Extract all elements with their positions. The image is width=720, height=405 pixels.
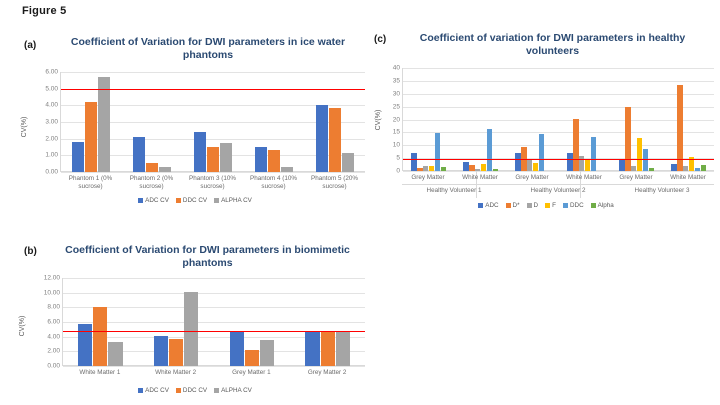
y-tick-label: 15 [393,129,400,136]
y-tick-label: 5 [396,155,400,162]
legend-label: DDC CV [183,197,207,204]
bar [411,153,416,171]
legend-swatch-icon [214,198,219,203]
bar [423,166,428,171]
x-category-label: White Matter [662,174,714,182]
y-tick-label: 4.00 [47,333,60,340]
y-tick-label: 2.00 [45,135,58,142]
gridline [61,72,365,73]
bar [573,119,578,171]
bar [184,292,198,366]
panel-c-legend: ADCD*DFDDCAlpha [372,202,720,209]
bar [194,132,206,172]
x-axis-line [403,170,714,171]
bar [527,160,532,171]
legend-swatch-icon [138,198,143,203]
bar [260,340,274,366]
y-tick-label: 12.00 [44,275,60,282]
legend-swatch-icon [214,388,219,393]
legend-label: DDC CV [183,387,207,394]
y-tick-label: 10.00 [44,289,60,296]
bar [567,153,572,171]
y-tick-label: 35 [393,77,400,84]
bar [493,169,498,171]
legend-item[interactable]: ALPHA CV [214,197,252,204]
bar [316,105,328,172]
bar [469,165,474,171]
x-category-label: White Matter [558,174,610,182]
y-tick-label: 30 [393,90,400,97]
gridline [63,322,365,323]
x-group-label: Healthy Volunteer 1 [402,187,506,194]
legend-item[interactable]: D* [506,202,520,209]
legend-swatch-icon [176,198,181,203]
gridline [403,132,714,133]
bar [245,350,259,366]
bar [281,167,293,172]
bar [169,339,183,366]
gridline [403,171,714,172]
x-category-label: White Matter [454,174,506,182]
bar [701,165,706,171]
gridline [63,366,365,367]
panel-b-title: Coefficient of Variation for DWI paramet… [60,244,355,270]
threshold-line [61,89,365,91]
legend-item[interactable]: Alpha [591,202,614,209]
bar [683,166,688,171]
legend-swatch-icon [527,203,532,208]
x-category-label: Grey Matter [610,174,662,182]
legend-label: DDC [570,202,584,209]
x-category-label: Phantom 5 (20% sucrose) [304,175,365,191]
y-tick-label: 4.00 [45,102,58,109]
bar [591,137,596,171]
bar [435,133,440,171]
bar [108,342,122,366]
x-category-label: White Matter 1 [62,369,138,377]
panel-a-legend: ADC CVDDC CVALPHA CV [20,197,370,204]
legend-item[interactable]: ADC CV [138,197,169,204]
panel-b-letter: (b) [24,246,37,257]
x-group-label: Healthy Volunteer 2 [506,187,610,194]
y-tick-label: 0 [396,168,400,175]
panel-c-plot-area: 0510152025303540 [402,68,714,171]
y-tick-label: 5.00 [45,85,58,92]
bar [417,168,422,171]
bar [329,108,341,172]
legend-label: D* [513,202,520,209]
figure-label: Figure 5 [22,5,66,17]
panel-c-chart: (c) Coefficient of variation for DWI par… [372,30,720,220]
legend-label: F [552,202,556,209]
y-tick-label: 6.00 [47,319,60,326]
y-tick-label: 2.00 [47,348,60,355]
bar [255,147,267,172]
bar [539,134,544,171]
gridline [63,278,365,279]
x-category-label: Grey Matter [402,174,454,182]
bar [619,160,624,171]
bar [146,163,158,172]
panel-b-chart: (b) Coefficient of Variation for DWI par… [20,240,370,405]
panel-a-chart: (a) Coefficient of Variation for DWI par… [20,32,370,217]
x-category-label: Phantom 3 (10% sucrose) [182,175,243,191]
legend-label: D [534,202,539,209]
legend-swatch-icon [506,203,511,208]
bar [695,168,700,171]
legend-item[interactable]: ADC [478,202,498,209]
legend-label: ADC CV [145,197,169,204]
legend-item[interactable]: ADC CV [138,387,169,394]
bar [159,167,171,172]
legend-label: Alpha [598,202,614,209]
bar [625,107,630,171]
panel-a-y-axis-label: CV(%) [21,117,28,138]
legend-label: ADC CV [145,387,169,394]
legend-swatch-icon [545,203,550,208]
bar [321,332,335,366]
bar [336,332,350,366]
y-tick-label: 3.00 [45,119,58,126]
x-category-label: Grey Matter [506,174,558,182]
legend-swatch-icon [176,388,181,393]
bar [585,160,590,171]
y-tick-label: 0.00 [47,363,60,370]
legend-item[interactable]: F [545,202,556,209]
bar [487,129,492,171]
bar [93,307,107,366]
bar [463,162,468,171]
bar [230,332,244,366]
x-category-label: Phantom 2 (0% sucrose) [121,175,182,191]
bar [220,143,232,172]
legend-item[interactable]: D [527,202,539,209]
legend-swatch-icon [563,203,568,208]
legend-item[interactable]: DDC CV [176,387,207,394]
bar [207,147,219,172]
gridline [403,120,714,121]
y-tick-label: 0.00 [45,169,58,176]
legend-label: ALPHA CV [221,387,252,394]
gridline [403,81,714,82]
legend-swatch-icon [478,203,483,208]
bar [671,164,676,171]
bar [441,167,446,171]
gridline [403,145,714,146]
gridline [63,307,365,308]
gridline [403,107,714,108]
bar [268,150,280,172]
group-axis-line [402,184,714,185]
y-tick-label: 40 [393,65,400,72]
x-category-label: Grey Matter 2 [289,369,365,377]
legend-item[interactable]: ALPHA CV [214,387,252,394]
bar [649,168,654,171]
bar [154,336,168,366]
y-tick-label: 8.00 [47,304,60,311]
legend-item[interactable]: DDC CV [176,197,207,204]
panel-c-title: Coefficient of variation for DWI paramet… [400,32,705,58]
y-tick-label: 1.00 [45,152,58,159]
panel-b-plot-area: 0.002.004.006.008.0010.0012.00 [62,278,365,366]
bar [637,138,642,171]
gridline [403,68,714,69]
bar [342,153,354,172]
bar [631,166,636,171]
bar [515,153,520,171]
gridline [403,94,714,95]
y-tick-label: 6.00 [45,69,58,76]
x-category-label: Grey Matter 1 [214,369,290,377]
panel-b-legend: ADC CVDDC CVALPHA CV [20,387,370,394]
legend-swatch-icon [138,388,143,393]
y-tick-label: 25 [393,103,400,110]
threshold-line [63,331,365,333]
panel-c-y-axis-label: CV(%) [375,110,382,131]
panel-b-y-axis-label: CV(%) [19,316,26,337]
legend-label: ADC [485,202,498,209]
panel-a-title: Coefficient of Variation for DWI paramet… [58,36,358,62]
bar [533,163,538,171]
x-category-label: Phantom 4 (10% sucrose) [243,175,304,191]
bar [98,77,110,172]
bar [481,164,486,171]
legend-label: ALPHA CV [221,197,252,204]
y-tick-label: 20 [393,116,400,123]
threshold-line [403,159,714,161]
gridline [61,172,365,173]
panel-a-letter: (a) [24,40,36,51]
bar [85,102,97,172]
bar [305,332,319,366]
y-tick-label: 10 [393,142,400,149]
bar [429,166,434,171]
bar [72,142,84,172]
panel-c-letter: (c) [374,34,386,45]
legend-swatch-icon [591,203,596,208]
bar [133,137,145,172]
x-category-label: White Matter 2 [138,369,214,377]
x-group-label: Healthy Volunteer 3 [610,187,714,194]
gridline [63,293,365,294]
x-category-label: Phantom 1 (0% sucrose) [60,175,121,191]
legend-item[interactable]: DDC [563,202,584,209]
bar [579,156,584,171]
panel-a-plot-area: 0.001.002.003.004.005.006.00 [60,72,365,172]
